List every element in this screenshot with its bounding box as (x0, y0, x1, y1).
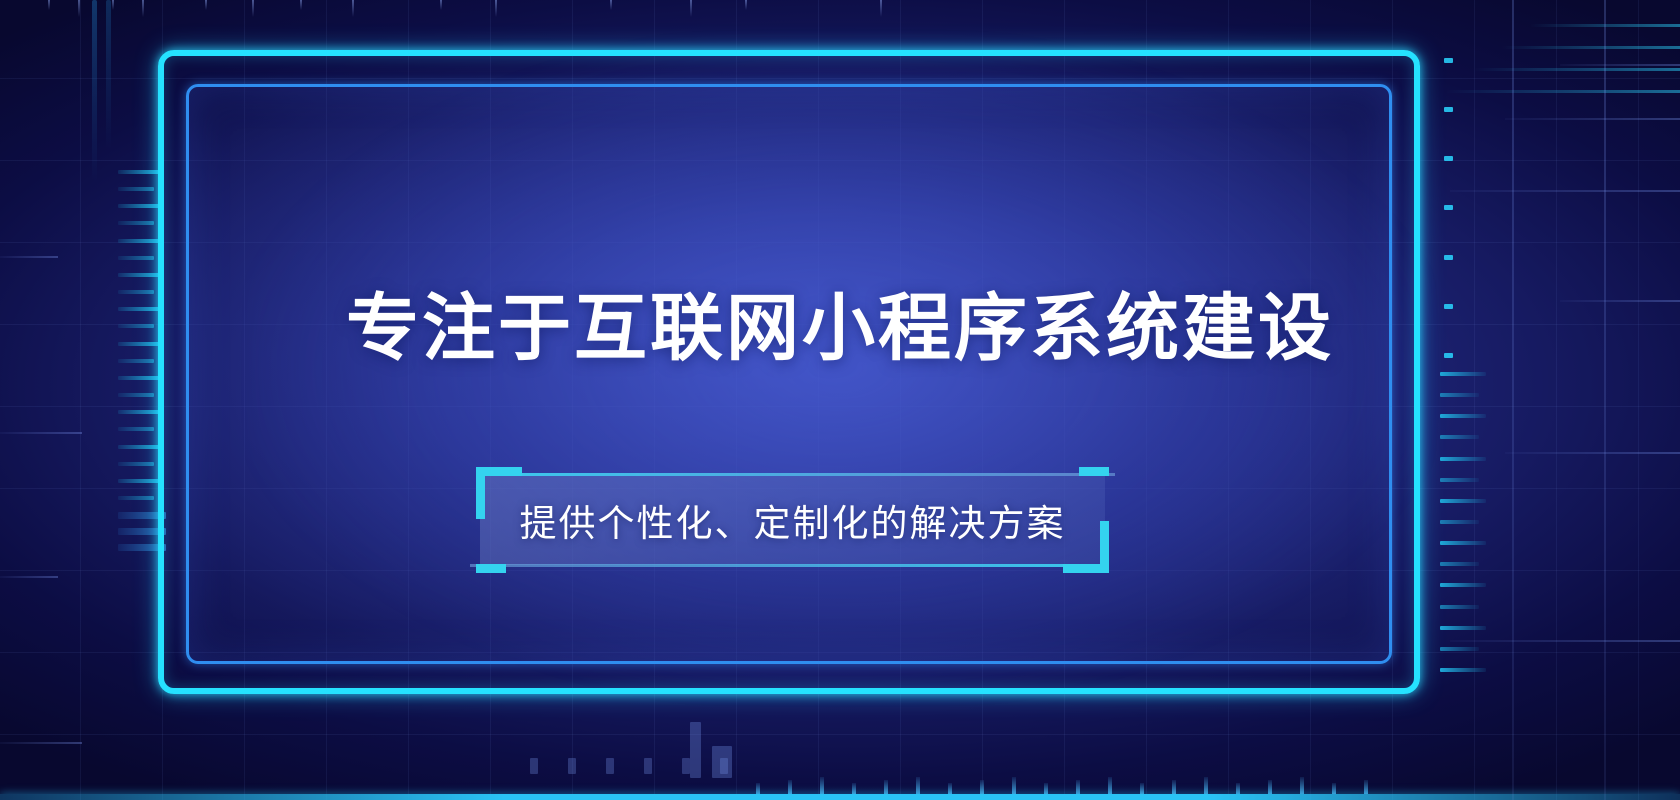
page-subtitle: 提供个性化、定制化的解决方案 (470, 465, 1115, 575)
bottom-accent-bar (0, 794, 1680, 800)
bottom-tick-marks (756, 772, 1396, 794)
bottom-tall-bars (690, 718, 750, 778)
subtitle-box: 提供个性化、定制化的解决方案 (470, 465, 1115, 575)
page-title: 专注于互联网小程序系统建设 (0, 292, 1680, 365)
right-dash-stack (1440, 372, 1486, 672)
right-vertical-rule (1512, 0, 1514, 800)
inner-panel-frame (186, 84, 1392, 664)
top-left-accent-bars (92, 0, 132, 190)
right-rule-lines (1480, 0, 1680, 800)
right-vertical-rule (1604, 0, 1606, 800)
tech-banner: 专注于互联网小程序系统建设 提供个性化、定制化的解决方案 (0, 0, 1680, 800)
